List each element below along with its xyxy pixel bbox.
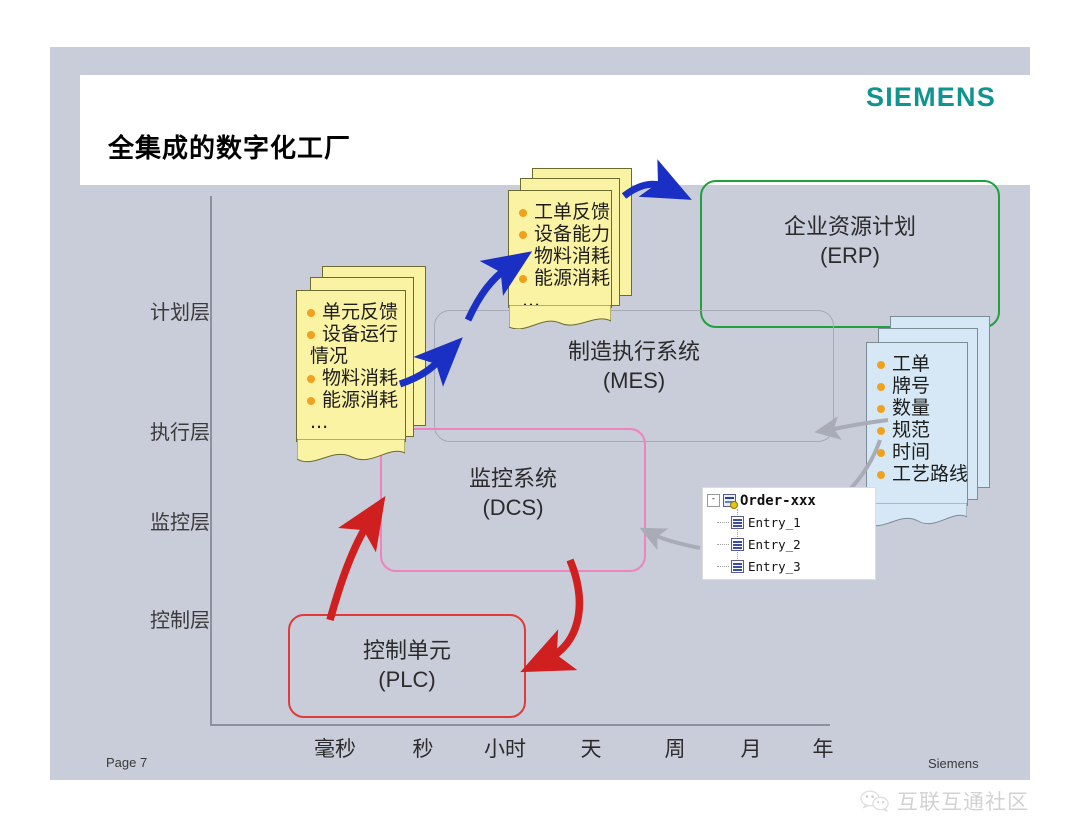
note-left-yellow-list: 单元反馈 设备运行 情况 物料消耗 能源消耗 ...: [306, 301, 395, 433]
tree-row-entry-2[interactable]: Entry_2: [731, 536, 801, 553]
note-right-blue-front: 工单 牌号 数量 规范 时间 工艺路线: [866, 342, 968, 506]
page-number: Page 7: [106, 755, 147, 770]
axis-label-year: 年: [788, 733, 858, 763]
page-title: 全集成的数字化工厂: [108, 128, 351, 165]
slide-root: SIEMENS 全集成的数字化工厂 计划层 执行层 监控层 控制层 毫秒 秒 小…: [0, 0, 1080, 834]
box-mes-label-en: (MES): [435, 367, 833, 395]
list-item: 情况: [306, 345, 395, 367]
entry-document-icon: [731, 516, 744, 529]
box-plc-label-en: (PLC): [290, 666, 524, 694]
list-item: 数量: [876, 397, 957, 419]
list-item: 规范: [876, 419, 957, 441]
axis-label-execution: 执行层: [110, 416, 210, 445]
box-erp-caption: 企业资源计划 (ERP): [702, 214, 998, 269]
box-plc-caption: 控制单元 (PLC): [290, 638, 524, 693]
box-plc[interactable]: 控制单元 (PLC): [288, 614, 526, 718]
list-item: 设备能力: [518, 223, 601, 245]
tree-guide-branch: [717, 566, 729, 567]
axis-label-hour: 小时: [470, 733, 540, 763]
box-dcs-label-en: (DCS): [382, 494, 644, 522]
collapse-icon[interactable]: -: [707, 494, 720, 507]
tree-guide-branch: [717, 544, 729, 545]
footer-brand: Siemens: [928, 756, 979, 771]
box-plc-label-cn: 控制单元: [290, 638, 524, 666]
list-item: 物料消耗: [306, 367, 395, 389]
axis-label-month: 月: [716, 733, 786, 763]
axis-label-second: 秒: [388, 733, 458, 763]
note-top-yellow-front: 工单反馈 设备能力 物料消耗 能源消耗 ...: [508, 190, 612, 308]
order-folder-icon: [723, 494, 736, 507]
axis-vertical-line: [210, 196, 212, 726]
note-torn-edge-icon: [867, 503, 967, 527]
axis-horizontal-line: [210, 724, 830, 726]
box-mes-caption: 制造执行系统 (MES): [435, 339, 833, 394]
list-item: 工单: [876, 353, 957, 375]
list-item: 能源消耗: [518, 267, 601, 289]
tree-row-entry-1[interactable]: Entry_1: [731, 514, 801, 531]
list-item: 设备运行: [306, 323, 395, 345]
note-torn-edge-icon: [509, 305, 611, 329]
note-stack-top-yellow[interactable]: 工单反馈 设备能力 物料消耗 能源消耗 ...: [508, 168, 636, 328]
tree-root-label: Order-xxx: [740, 493, 816, 509]
note-stack-right-blue[interactable]: 工单 牌号 数量 规范 时间 工艺路线: [862, 316, 1012, 526]
note-stack-left-yellow[interactable]: 单元反馈 设备运行 情况 物料消耗 能源消耗 ...: [296, 266, 436, 466]
box-mes[interactable]: 制造执行系统 (MES): [434, 310, 834, 442]
list-item: 工艺路线: [876, 463, 957, 485]
box-dcs-label-cn: 监控系统: [382, 466, 644, 494]
tree-row-entry-3[interactable]: Entry_3: [731, 558, 801, 575]
box-mes-label-cn: 制造执行系统: [435, 339, 833, 367]
list-item: 牌号: [876, 375, 957, 397]
watermark-text: 互联互通社区: [897, 786, 1029, 816]
list-item: 工单反馈: [518, 201, 601, 223]
note-top-yellow-list: 工单反馈 设备能力 物料消耗 能源消耗 ...: [518, 201, 601, 311]
tree-child-label: Entry_1: [748, 515, 801, 530]
wechat-icon: [860, 790, 890, 812]
entry-document-icon: [731, 560, 744, 573]
list-item: 物料消耗: [518, 245, 601, 267]
entry-document-icon: [731, 538, 744, 551]
tree-guide-branch: [717, 522, 729, 523]
note-torn-edge-icon: [297, 439, 405, 463]
note-right-blue-list: 工单 牌号 数量 规范 时间 工艺路线: [876, 353, 957, 485]
axis-label-week: 周: [640, 733, 710, 763]
list-item: 单元反馈: [306, 301, 395, 323]
list-item: 时间: [876, 441, 957, 463]
siemens-logo: SIEMENS: [866, 82, 996, 113]
axis-label-millisecond: 毫秒: [300, 733, 370, 763]
box-dcs-caption: 监控系统 (DCS): [382, 466, 644, 521]
tree-child-label: Entry_2: [748, 537, 801, 552]
list-item-ellipsis: ...: [306, 411, 395, 433]
axis-label-control: 控制层: [110, 604, 210, 633]
axis-label-planning: 计划层: [110, 296, 210, 325]
axis-label-supervision: 监控层: [110, 506, 210, 535]
tree-row-root[interactable]: - Order-xxx: [707, 492, 816, 509]
box-erp[interactable]: 企业资源计划 (ERP): [700, 180, 1000, 328]
tree-child-label: Entry_3: [748, 559, 801, 574]
watermark: 互联互通社区: [860, 786, 1029, 816]
note-left-yellow-front: 单元反馈 设备运行 情况 物料消耗 能源消耗 ...: [296, 290, 406, 442]
box-erp-label-cn: 企业资源计划: [702, 214, 998, 242]
list-item: 能源消耗: [306, 389, 395, 411]
box-erp-label-en: (ERP): [702, 242, 998, 270]
axis-label-day: 天: [556, 733, 626, 763]
order-tree-widget[interactable]: - Order-xxx Entry_1 Entry_2: [702, 487, 876, 580]
